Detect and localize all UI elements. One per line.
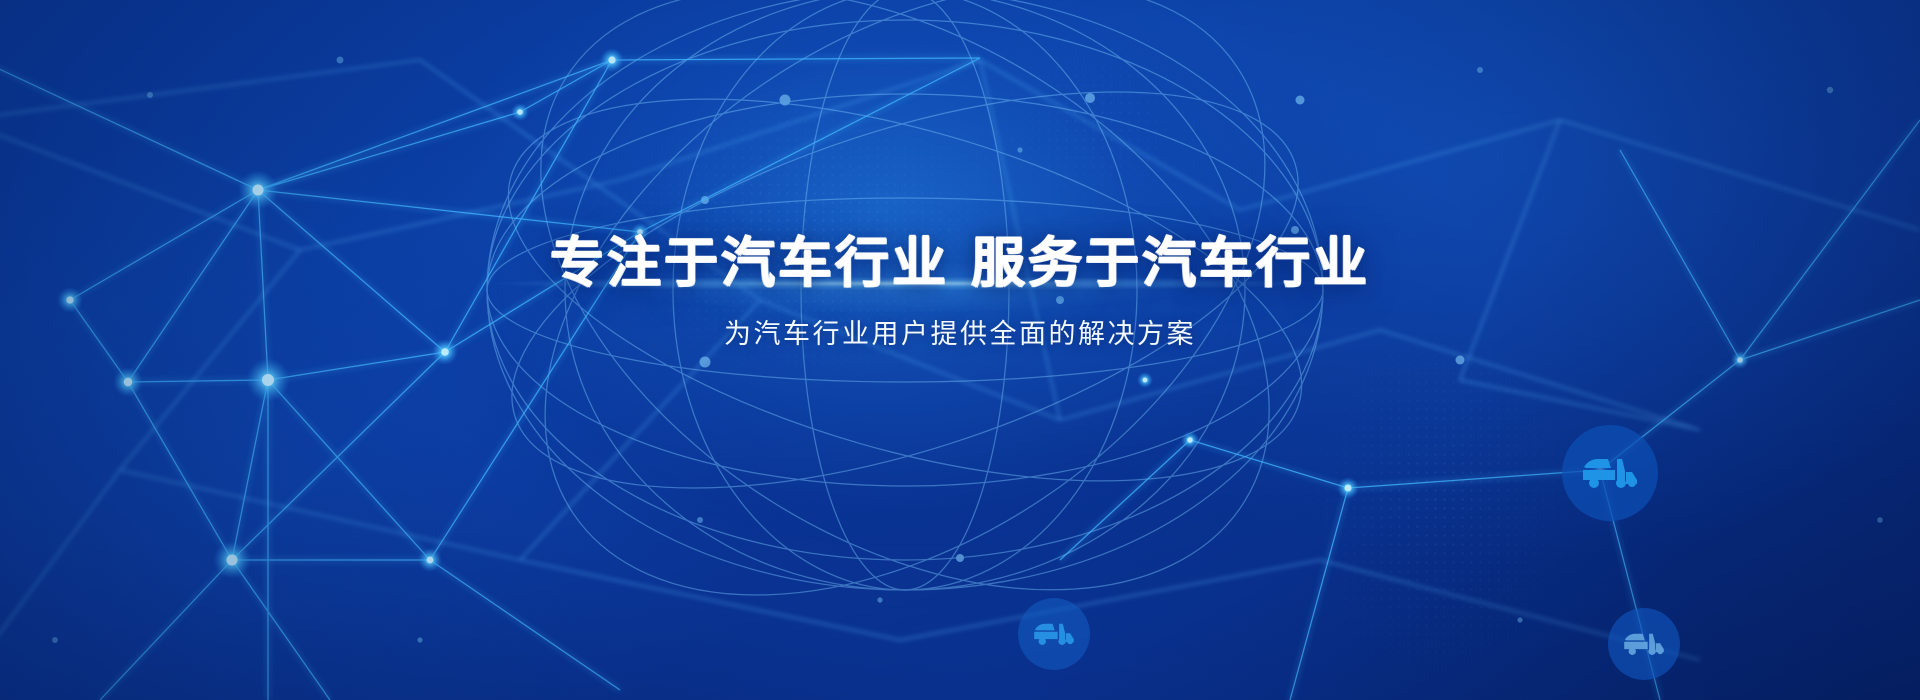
truck-badge-right-lower (1608, 608, 1680, 680)
page-subtitle: 为汽车行业用户提供全面的解决方案 (0, 317, 1920, 352)
truck-icon (1580, 453, 1640, 493)
page-title: 专注于汽车行业服务于汽车行业 (0, 232, 1920, 296)
truck-icon (1622, 629, 1666, 659)
truck-badge-center-lower (1018, 598, 1090, 670)
truck-badge-right-upper (1562, 425, 1658, 521)
hero-copy: 专注于汽车行业服务于汽车行业 为汽车行业用户提供全面的解决方案 (0, 232, 1920, 352)
headline-part-2: 服务于汽车行业 (971, 233, 1370, 293)
truck-icon (1032, 619, 1076, 649)
hero-banner: 专注于汽车行业服务于汽车行业 为汽车行业用户提供全面的解决方案 (0, 0, 1920, 700)
headline-part-1: 专注于汽车行业 (550, 233, 949, 293)
